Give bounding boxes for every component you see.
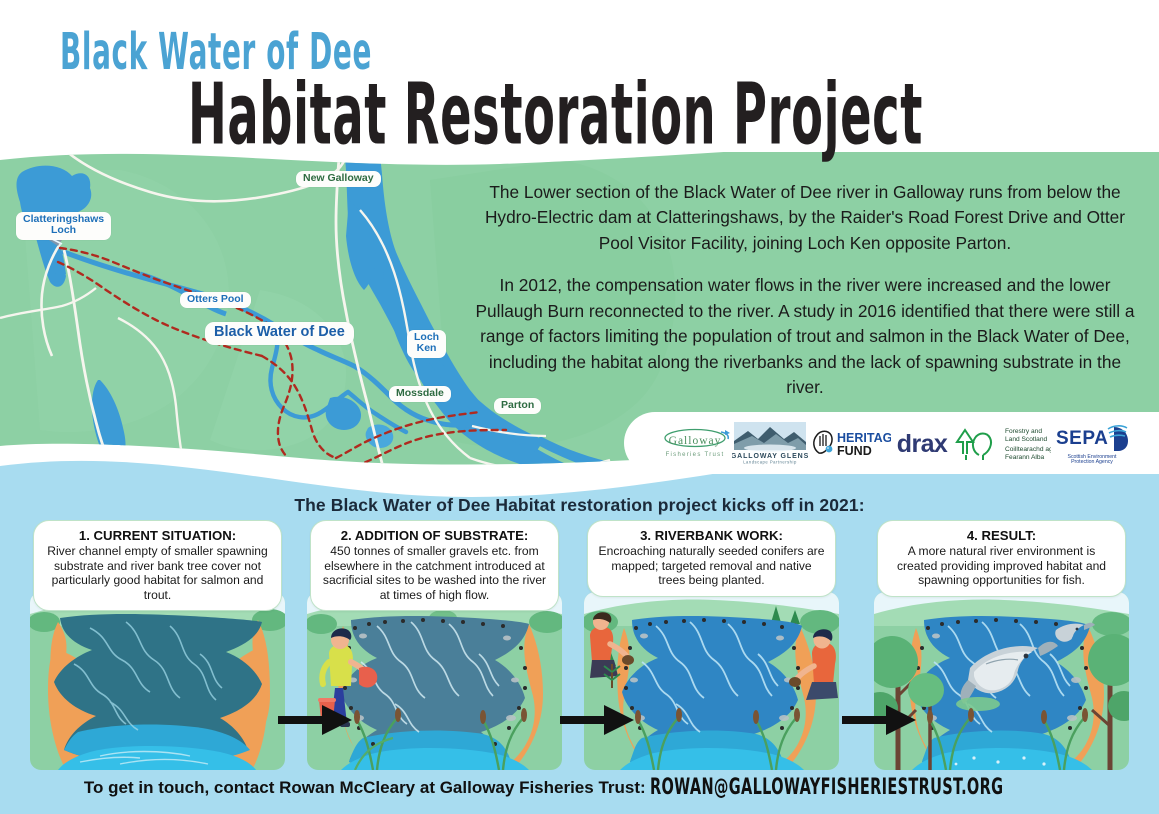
panel-4-title: 4. RESULT: bbox=[887, 528, 1116, 543]
map-label-loch-ken: Loch Ken bbox=[407, 330, 446, 358]
svg-text:HERITAGE: HERITAGE bbox=[837, 431, 891, 445]
svg-text:Forestry and: Forestry and bbox=[1005, 428, 1042, 435]
footer-email[interactable]: ROWAN@GALLOWAYFISHERIESTRUST.ORG bbox=[650, 775, 1003, 800]
map-labels-layer: Clatteringshaws Loch New Galloway Otters… bbox=[0, 140, 640, 490]
svg-text:FUND: FUND bbox=[837, 444, 872, 458]
panel-2-text: 450 tonnes of smaller gravels etc. from … bbox=[320, 544, 549, 602]
panel-4-text: A more natural river environment is crea… bbox=[887, 544, 1116, 588]
panel-1-title: 1. CURRENT SITUATION: bbox=[43, 528, 272, 543]
sepa-logo: SEPA Scottish Environment Protection Age… bbox=[1052, 422, 1132, 464]
forestry-and-land-scotland-logo: Forestry and Land Scotland Coilltearachd… bbox=[953, 422, 1051, 464]
svg-text:Fisheries Trust: Fisheries Trust bbox=[665, 452, 724, 458]
svg-text:Galloway: Galloway bbox=[668, 435, 721, 447]
svg-text:drax: drax bbox=[897, 430, 948, 458]
panel-3-title: 3. RIVERBANK WORK: bbox=[597, 528, 826, 543]
map-label-clatteringshaws-loch: Clatteringshaws Loch bbox=[16, 212, 111, 240]
galloway-fisheries-trust-logo: Galloway Fisheries Trust bbox=[659, 423, 731, 463]
svg-text:Land Scotland: Land Scotland bbox=[1005, 436, 1047, 443]
footer: To get in touch, contact Rowan McCleary … bbox=[0, 775, 1159, 800]
panel-2-title: 2. ADDITION OF SUBSTRATE: bbox=[320, 528, 549, 543]
poster-root: Clatteringshaws Loch New Galloway Otters… bbox=[0, 0, 1159, 814]
page-title-line2: Habitat Restoration Project bbox=[188, 64, 923, 164]
panel-3-text: Encroaching naturally seeded conifers ar… bbox=[597, 544, 826, 588]
arrow-2-to-3 bbox=[560, 700, 636, 745]
kickoff-heading: The Black Water of Dee Habitat restorati… bbox=[0, 495, 1159, 516]
arrow-1-to-2 bbox=[278, 700, 354, 745]
map-label-mossdale: Mossdale bbox=[389, 386, 451, 402]
map-label-black-water-of-dee: Black Water of Dee bbox=[205, 322, 354, 345]
panel-3-card: 3. RIVERBANK WORK: Encroaching naturally… bbox=[587, 520, 836, 597]
svg-text:SEPA: SEPA bbox=[1056, 428, 1108, 449]
map-label-parton: Parton bbox=[494, 398, 541, 414]
funder-logo-bar: Galloway Fisheries Trust GALLOWAY GLENS … bbox=[624, 412, 1159, 474]
svg-text:Protection Agency: Protection Agency bbox=[1071, 459, 1113, 464]
panel-4-card: 4. RESULT: A more natural river environm… bbox=[877, 520, 1126, 597]
svg-text:Fearann Alba: Fearann Alba bbox=[1005, 454, 1045, 461]
footer-contact-text: To get in touch, contact Rowan McCleary … bbox=[84, 778, 646, 798]
drax-logo: drax bbox=[892, 427, 952, 459]
panel-current-situation: 1. CURRENT SITUATION: River channel empt… bbox=[30, 520, 285, 770]
panel-2-card: 2. ADDITION OF SUBSTRATE: 450 tonnes of … bbox=[310, 520, 559, 611]
panel-1-illustration bbox=[30, 592, 285, 770]
heritage-fund-logo: HERITAGE FUND bbox=[809, 425, 891, 461]
map-label-otters-pool: Otters Pool bbox=[180, 292, 251, 308]
panel-1-card: 1. CURRENT SITUATION: River channel empt… bbox=[33, 520, 282, 611]
panel-1-text: River channel empty of smaller spawning … bbox=[43, 544, 272, 602]
svg-text:Coilltearachd agus: Coilltearachd agus bbox=[1005, 446, 1051, 453]
map-label-new-galloway: New Galloway bbox=[296, 171, 381, 187]
svg-text:Landscape Partnership: Landscape Partnership bbox=[743, 460, 797, 465]
arrow-3-to-4 bbox=[842, 700, 918, 745]
header: Black Water of Dee Habitat Restoration P… bbox=[0, 0, 1159, 152]
galloway-glens-logo: GALLOWAY GLENS Landscape Partnership bbox=[732, 421, 808, 465]
